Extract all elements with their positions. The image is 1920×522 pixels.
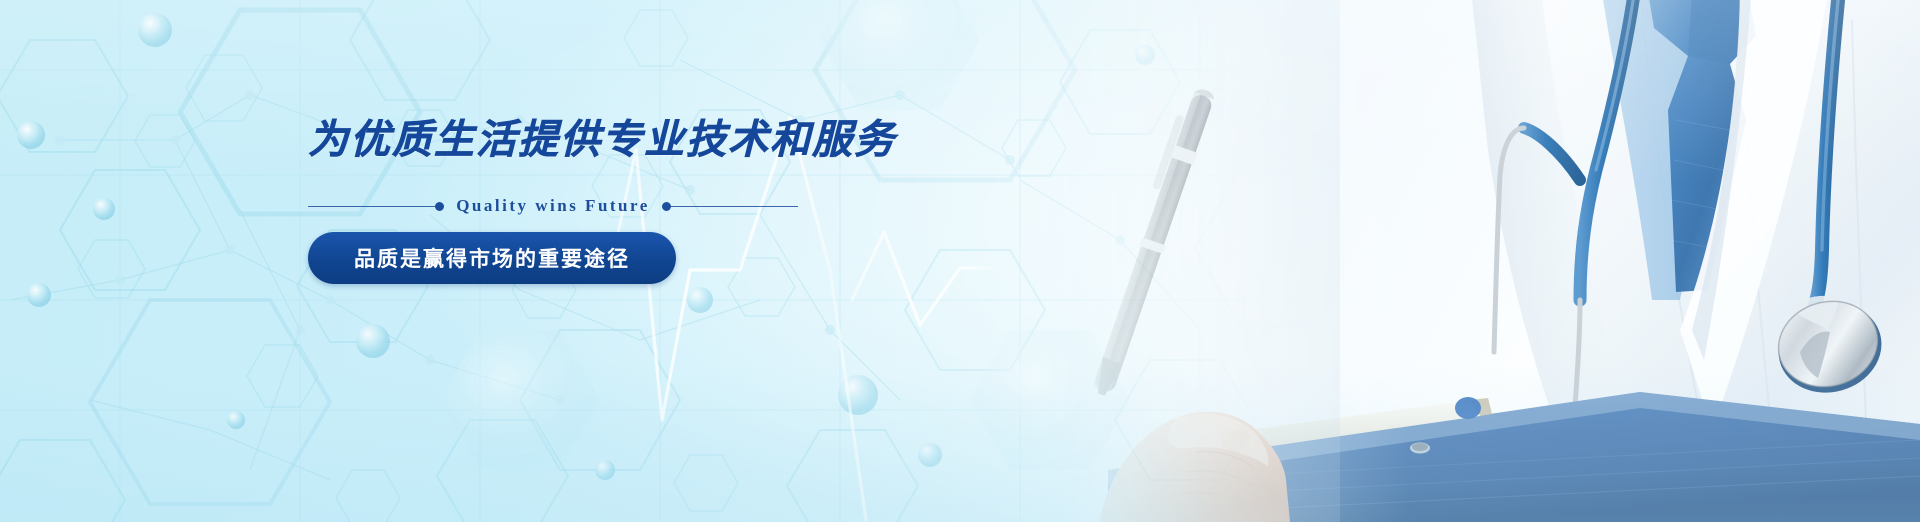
dot-marker-left bbox=[435, 202, 444, 211]
rule-line-left bbox=[308, 206, 435, 207]
subtitle-en: Quality wins Future bbox=[444, 196, 662, 216]
slogan-pill-button[interactable]: 品质是赢得市场的重要途径 bbox=[308, 232, 676, 284]
page-title: 为优质生活提供专业技术和服务 bbox=[308, 118, 1000, 162]
subtitle-row: Quality wins Future bbox=[308, 196, 798, 216]
hero-banner: 为优质生活提供专业技术和服务 Quality wins Future 品质是赢得… bbox=[0, 0, 1920, 522]
rule-line-right bbox=[671, 206, 798, 207]
hero-text-block: 为优质生活提供专业技术和服务 Quality wins Future 品质是赢得… bbox=[300, 118, 1000, 284]
dot-marker-right bbox=[662, 202, 671, 211]
